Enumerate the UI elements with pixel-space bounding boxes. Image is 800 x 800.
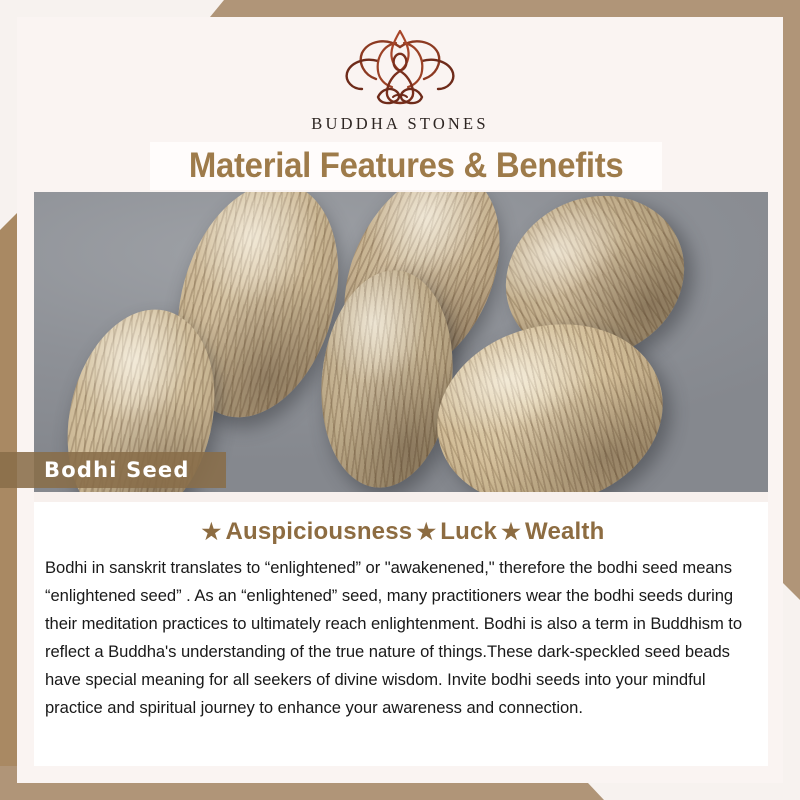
star-icon-3: ★ [501,519,521,544]
photo-caption-label: Bodhi Seed [44,458,190,482]
lotus-meditating-figure-icon [338,27,462,111]
benefit-label-2: Luck [440,518,497,545]
title-banner: Material Features & Benefits [150,142,662,190]
star-icon-2: ★ [416,519,436,544]
benefit-label-1: Auspiciousness [225,518,412,545]
panel-top-strip [34,492,768,502]
star-icon-1: ★ [202,519,222,544]
infographic-page: BUDDHA STONES Material Features & Benefi… [0,0,800,800]
description-panel: ★Auspiciousness★Luck★Wealth Bodhi in san… [34,492,768,766]
brand-name: BUDDHA STONES [311,114,488,134]
page-title: Material Features & Benefits [189,146,624,186]
product-photo [34,192,768,492]
benefits-heading: ★Auspiciousness★Luck★Wealth [34,518,768,546]
description-body: Bodhi in sanskrit translates to “enlight… [45,554,761,722]
photo-caption-band: Bodhi Seed [0,452,226,488]
benefit-label-3: Wealth [525,518,604,545]
